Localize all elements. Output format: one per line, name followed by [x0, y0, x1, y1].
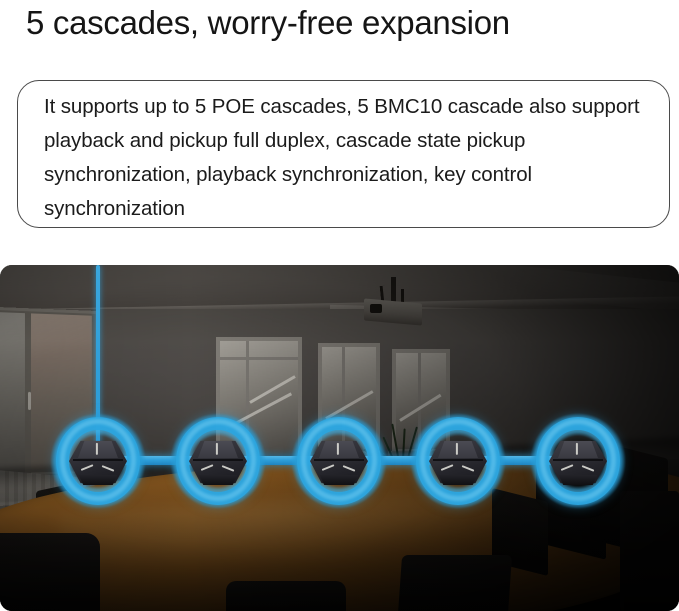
pod-ray-up [456, 443, 458, 455]
cascade-device-5 [530, 413, 626, 509]
pod-base [435, 475, 481, 485]
pod-seam [314, 459, 364, 461]
pod-base [316, 475, 362, 485]
conference-room-photo [0, 265, 679, 611]
pod-top [438, 441, 478, 458]
cascade-device-1 [50, 413, 146, 509]
pod-ray-up [216, 443, 218, 455]
cascade-diagram-overlay [0, 265, 679, 611]
cascade-device-2 [170, 413, 266, 509]
microphone-pod-icon [549, 439, 607, 485]
pod-top [558, 441, 598, 458]
microphone-pod-icon [69, 439, 127, 485]
pod-top [78, 441, 118, 458]
microphone-pod-icon [310, 439, 368, 485]
pod-seam [553, 459, 603, 461]
page-title: 5 cascades, worry-free expansion [26, 1, 666, 45]
pod-top [319, 441, 359, 458]
pod-ray-up [337, 443, 339, 455]
cascade-device-3 [291, 413, 387, 509]
pod-seam [193, 459, 243, 461]
microphone-pod-icon [429, 439, 487, 485]
pod-top [198, 441, 238, 458]
pod-seam [73, 459, 123, 461]
pod-ray-up [576, 443, 578, 455]
pod-base [195, 475, 241, 485]
product-feature-page: 5 cascades, worry-free expansion It supp… [0, 0, 679, 611]
pod-base [75, 475, 121, 485]
microphone-pod-icon [189, 439, 247, 485]
description-callout: It supports up to 5 POE cascades, 5 BMC1… [17, 80, 670, 228]
pod-base [555, 475, 601, 485]
pod-seam [433, 459, 483, 461]
pod-ray-up [96, 443, 98, 455]
cascade-device-4 [410, 413, 506, 509]
description-text: It supports up to 5 POE cascades, 5 BMC1… [44, 90, 644, 226]
